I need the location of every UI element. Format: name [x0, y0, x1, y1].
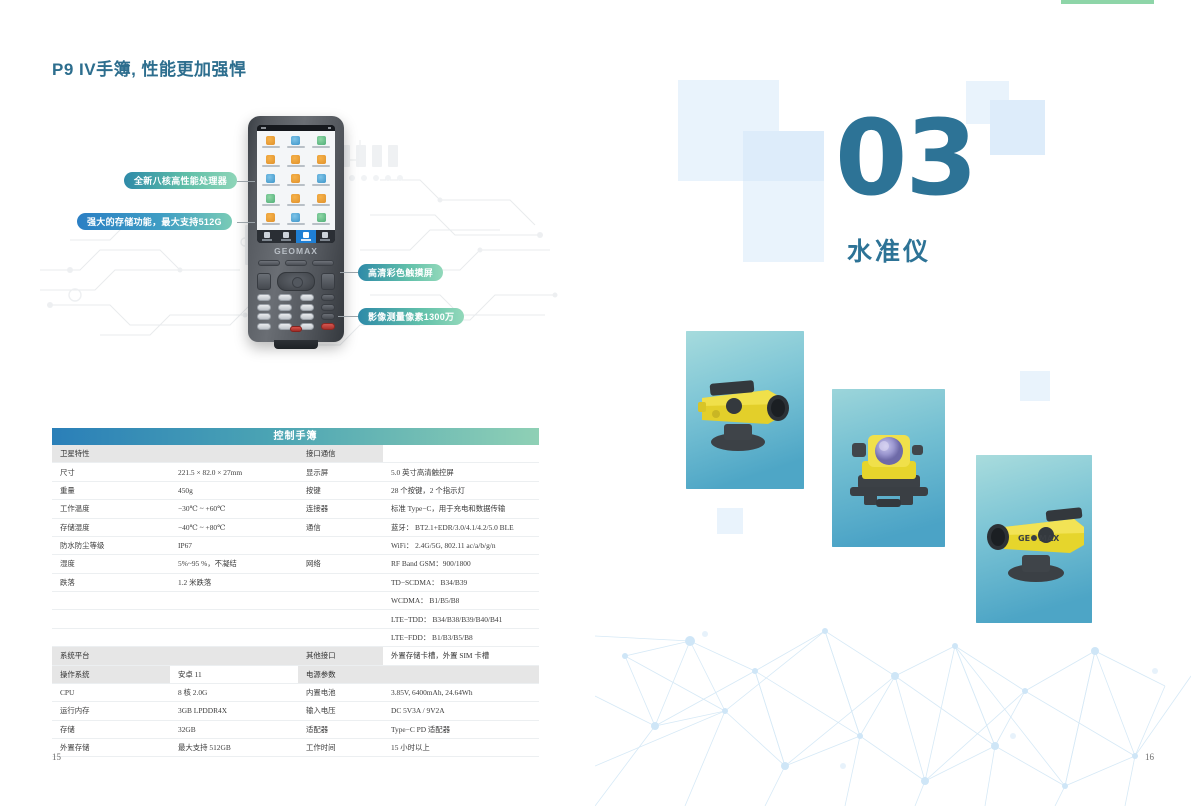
- table-row: 重量450g按键28 个按键，2 个指示灯: [52, 481, 539, 499]
- keypad-row: [257, 313, 335, 320]
- table-cell: 操作系统: [52, 665, 170, 683]
- svg-text:GE: GE: [1018, 534, 1030, 543]
- table-cell: 系统平台: [52, 647, 170, 665]
- table-cell: 32GB: [170, 720, 298, 738]
- screen-tab-survey: [296, 230, 316, 243]
- keypad-key-fn: [321, 323, 335, 330]
- table-cell: 接口通信: [298, 445, 383, 463]
- callout-storage: 强大的存储功能，最大支持512G: [77, 213, 232, 230]
- table-cell: LTE−FDD： B1/B3/B5/B8: [383, 628, 539, 646]
- table-cell: LTE−TDD： B34/B38/B39/B40/B41: [383, 610, 539, 628]
- table-cell: Type−C PD 适配器: [383, 720, 539, 738]
- keypad-key: [257, 304, 271, 311]
- table-cell: 3.85V, 6400mAh, 24.64Wh: [383, 683, 539, 701]
- table-row: CPU8 核 2.0G内置电池3.85V, 6400mAh, 24.64Wh: [52, 683, 539, 701]
- keypad-row: [257, 294, 335, 301]
- app-icon-cell: [258, 210, 283, 229]
- table-cell: WiFi： 2.4G/5G, 802.11 ac/a/b/g/n: [383, 536, 539, 554]
- table-row: 湿度5%~95 %，不凝结网络RF Band GSM：900/1800: [52, 555, 539, 573]
- page-title: P9 IV手簿, 性能更加强悍: [52, 55, 247, 80]
- app-icon-cell: [309, 190, 334, 209]
- spec-table: 控制手簿 卫星特性接口通信尺寸221.5 × 82.0 × 27mm显示屏5.0…: [52, 428, 539, 757]
- app-icon-cell: [258, 132, 283, 151]
- nav-dpad: [277, 272, 315, 291]
- table-cell: 存储湿度: [52, 518, 170, 536]
- table-cell: 外置存储: [52, 739, 170, 757]
- table-cell: 内置电池: [298, 683, 383, 701]
- device-nav-row: [257, 271, 335, 291]
- app-icon-cell: [258, 190, 283, 209]
- table-cell: CPU: [52, 683, 170, 701]
- table-row: 防水防尘等级IP67WiFi： 2.4G/5G, 802.11 ac/a/b/g…: [52, 536, 539, 554]
- table-cell: 最大支持 512GB: [170, 739, 298, 757]
- table-cell: 存储: [52, 720, 170, 738]
- table-cell: [170, 610, 298, 628]
- page-number-left: 15: [52, 752, 61, 762]
- table-cell: RF Band GSM：900/1800: [383, 555, 539, 573]
- keypad-key: [278, 313, 292, 320]
- table-row: LTE−FDD： B1/B3/B5/B8: [52, 628, 539, 646]
- chapter-title: 水准仪: [847, 232, 931, 268]
- app-icon-cell: [283, 210, 308, 229]
- screen-tab-tools: [277, 230, 297, 243]
- nav-right-key: [321, 273, 335, 290]
- callout-camera: 影像测量像素1300万: [358, 308, 464, 325]
- table-cell: [383, 445, 539, 463]
- table-cell: [170, 445, 298, 463]
- device-base: [274, 340, 318, 349]
- table-cell: 网络: [298, 555, 383, 573]
- svg-text:MAX: MAX: [1039, 534, 1060, 543]
- device-softkeys: [258, 260, 334, 266]
- device-body: GEOMAX: [248, 116, 344, 342]
- table-cell: 显示屏: [298, 463, 383, 481]
- table-row: 工作温度−30℃ ~ +60℃连接器标准 Type−C，用于充电和数据传输: [52, 500, 539, 518]
- page-number-right: 16: [1145, 752, 1154, 762]
- table-cell: 输入电压: [298, 702, 383, 720]
- app-icon-cell: [258, 151, 283, 170]
- table-cell: 按键: [298, 481, 383, 499]
- table-cell: [52, 610, 170, 628]
- softkey: [285, 260, 307, 266]
- table-cell: 标准 Type−C，用于充电和数据传输: [383, 500, 539, 518]
- network-polygon-decoration: [595, 616, 1191, 806]
- keypad-key: [300, 294, 314, 301]
- keypad-key: [257, 313, 271, 320]
- keypad-key: [257, 294, 271, 301]
- softkey: [312, 260, 334, 266]
- callout-leader-line: [237, 222, 255, 223]
- keypad-key: [257, 323, 271, 330]
- brochure-spread: P9 IV手簿, 性能更加强悍: [0, 0, 1191, 806]
- app-icon-cell: [258, 171, 283, 190]
- app-icon-cell: [283, 132, 308, 151]
- table-cell: 其他接口: [298, 647, 383, 665]
- table-cell: −40℃ ~ +80℃: [170, 518, 298, 536]
- right-page: 03 水准仪: [595, 0, 1191, 806]
- table-cell: 卫星特性: [52, 445, 170, 463]
- table-row: 跌落1.2 米跌落TD−SCDMA： B34/B39: [52, 573, 539, 591]
- table-row: 系统平台其他接口外置存储卡槽，外置 SIM 卡槽: [52, 647, 539, 665]
- table-row: 操作系统安卓 11电源参数: [52, 665, 539, 683]
- table-cell: 外置存储卡槽，外置 SIM 卡槽: [383, 647, 539, 665]
- keypad-key: [278, 304, 292, 311]
- table-cell: 8 核 2.0G: [170, 683, 298, 701]
- table-cell: 5%~95 %，不凝结: [170, 555, 298, 573]
- table-cell: IP67: [170, 536, 298, 554]
- table-cell: [170, 592, 298, 610]
- table-cell: 450g: [170, 481, 298, 499]
- app-icon-cell: [283, 190, 308, 209]
- table-cell: 通信: [298, 518, 383, 536]
- nav-left-key: [257, 273, 271, 290]
- table-cell: 防水防尘等级: [52, 536, 170, 554]
- device-image-p9-iv: GEOMAX: [248, 116, 344, 352]
- callout-touchscreen: 高清彩色触摸屏: [358, 264, 443, 281]
- app-icon-cell: [309, 151, 334, 170]
- table-cell: 28 个按键，2 个指示灯: [383, 481, 539, 499]
- table-cell: −30℃ ~ +60℃: [170, 500, 298, 518]
- table-row: 存储湿度−40℃ ~ +80℃通信蓝牙： BT2.1+EDR/3.0/4.1/4…: [52, 518, 539, 536]
- app-icon-cell: [283, 171, 308, 190]
- table-cell: 3GB LPDDR4X: [170, 702, 298, 720]
- table-row: 运行内存3GB LPDDR4X输入电压DC 5V3A / 9V2A: [52, 702, 539, 720]
- table-cell: 蓝牙： BT2.1+EDR/3.0/4.1/4.2/5.0 BLE: [383, 518, 539, 536]
- callout-processor: 全新八核高性能处理器: [124, 172, 237, 189]
- table-row: 尺寸221.5 × 82.0 × 27mm显示屏5.0 英寸高清触控屏: [52, 463, 539, 481]
- keypad-row: [257, 304, 335, 311]
- keypad-key: [321, 313, 335, 320]
- table-cell: 1.2 米跌落: [170, 573, 298, 591]
- table-cell: 跌落: [52, 573, 170, 591]
- table-cell: [170, 647, 298, 665]
- table-cell: [383, 665, 539, 683]
- callout-leader-line: [340, 272, 360, 273]
- callout-leader-line: [237, 181, 255, 182]
- spec-table-body: 卫星特性接口通信尺寸221.5 × 82.0 × 27mm显示屏5.0 英寸高清…: [52, 445, 539, 757]
- app-grid: [257, 131, 335, 230]
- screen-tabbar: [257, 230, 335, 243]
- auto-level-photo-2: [832, 389, 945, 547]
- table-cell: WCDMA： B1/B5/B8: [383, 592, 539, 610]
- callout-leader-line: [338, 316, 360, 317]
- table-cell: 运行内存: [52, 702, 170, 720]
- auto-level-photo-3: GE MAX: [976, 455, 1092, 623]
- left-page: P9 IV手簿, 性能更加强悍: [0, 0, 595, 806]
- table-cell: [298, 536, 383, 554]
- table-row: WCDMA： B1/B5/B8: [52, 592, 539, 610]
- decor-square: [743, 181, 824, 262]
- table-cell: 221.5 × 82.0 × 27mm: [170, 463, 298, 481]
- table-cell: [298, 628, 383, 646]
- keypad-key: [300, 313, 314, 320]
- table-cell: [52, 628, 170, 646]
- table-cell: TD−SCDMA： B34/B39: [383, 573, 539, 591]
- table-cell: 尺寸: [52, 463, 170, 481]
- table-cell: 湿度: [52, 555, 170, 573]
- table-cell: [298, 573, 383, 591]
- decor-square: [717, 508, 743, 534]
- keypad-key: [321, 294, 335, 301]
- table-cell: 工作温度: [52, 500, 170, 518]
- app-icon-cell: [283, 151, 308, 170]
- table-row: LTE−TDD： B34/B38/B39/B40/B41: [52, 610, 539, 628]
- app-icon-cell: [309, 171, 334, 190]
- table-cell: 电源参数: [298, 665, 383, 683]
- keypad-key: [278, 294, 292, 301]
- auto-level-photo-1: [686, 331, 804, 489]
- keypad-key: [300, 304, 314, 311]
- table-cell: 安卓 11: [170, 665, 298, 683]
- screen-tab-home: [257, 230, 277, 243]
- table-cell: [298, 610, 383, 628]
- table-cell: [52, 592, 170, 610]
- screen-tab-settings: [316, 230, 336, 243]
- device-brand-logo: GEOMAX: [248, 246, 344, 256]
- table-cell: 适配器: [298, 720, 383, 738]
- decor-square: [990, 100, 1045, 155]
- power-button: [290, 326, 302, 332]
- softkey: [258, 260, 280, 266]
- table-row: 卫星特性接口通信: [52, 445, 539, 463]
- table-cell: [170, 628, 298, 646]
- table-cell: 连接器: [298, 500, 383, 518]
- table-cell: 5.0 英寸高清触控屏: [383, 463, 539, 481]
- spec-table-title: 控制手簿: [52, 428, 539, 445]
- keypad-key: [321, 304, 335, 311]
- table-cell: DC 5V3A / 9V2A: [383, 702, 539, 720]
- table-cell: [298, 592, 383, 610]
- table-cell: 工作时间: [298, 739, 383, 757]
- table-cell: 重量: [52, 481, 170, 499]
- chapter-number: 03: [835, 106, 976, 210]
- table-cell: 15 小时以上: [383, 739, 539, 757]
- table-row: 外置存储最大支持 512GB工作时间15 小时以上: [52, 739, 539, 757]
- decor-square: [1020, 371, 1050, 401]
- table-row: 存储32GB适配器Type−C PD 适配器: [52, 720, 539, 738]
- app-icon-cell: [309, 210, 334, 229]
- app-icon-cell: [309, 132, 334, 151]
- device-screen: [257, 125, 335, 243]
- green-accent-bar: [1061, 0, 1154, 4]
